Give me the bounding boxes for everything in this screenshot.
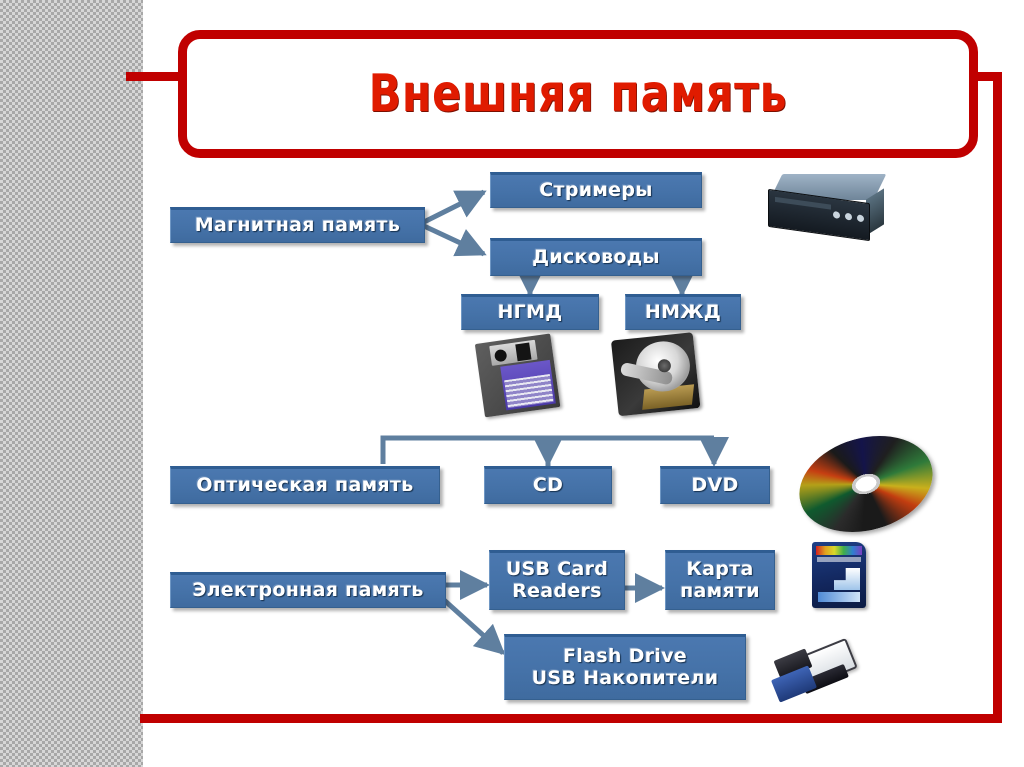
node-label-line2: Readers	[512, 581, 602, 603]
node-usb-card-readers[interactable]: USB Card Readers	[489, 550, 625, 610]
node-label: DVD	[691, 475, 738, 497]
node-label: НМЖД	[645, 302, 721, 324]
node-label-line1: Flash Drive	[563, 646, 687, 668]
node-cd[interactable]: CD	[484, 466, 612, 504]
node-label: Электронная память	[192, 580, 423, 602]
node-label: Магнитная память	[195, 215, 400, 237]
node-label: Дисководы	[532, 247, 660, 269]
node-dvd[interactable]: DVD	[660, 466, 770, 504]
floppy-disk-photo	[475, 333, 567, 424]
edge-optical-cd	[383, 438, 548, 466]
node-label-line1: USB Card	[506, 559, 608, 581]
compact-disc-photo	[798, 438, 934, 530]
node-label: НГМД	[497, 302, 562, 324]
optical-drive-photo	[766, 170, 892, 250]
edge-magnetic-streamers	[424, 192, 484, 222]
left-texture-panel	[0, 0, 143, 767]
frame-left-connector	[126, 72, 186, 81]
edge-magnetic-diskdrives	[424, 226, 484, 254]
node-label-line2: памяти	[680, 581, 760, 603]
node-memory-card[interactable]: Карта памяти	[665, 550, 775, 610]
node-label-line1: Карта	[686, 559, 753, 581]
sd-memory-card-photo	[812, 542, 866, 608]
frame-bottom-border	[140, 714, 1002, 723]
hard-disk-photo	[611, 332, 705, 423]
node-label-line2: USB Накопители	[532, 668, 719, 690]
node-optical-memory[interactable]: Оптическая память	[170, 466, 440, 504]
node-label: Оптическая память	[196, 475, 413, 497]
node-streamers[interactable]: Стримеры	[490, 172, 702, 208]
node-disk-drives[interactable]: Дисководы	[490, 238, 702, 276]
node-label: Стримеры	[539, 180, 652, 202]
node-ngmd[interactable]: НГМД	[461, 294, 599, 330]
frame-right-border	[993, 72, 1002, 723]
usb-flash-drive-photo	[772, 642, 858, 704]
node-electronic-memory[interactable]: Электронная память	[170, 572, 446, 608]
node-magnetic-memory[interactable]: Магнитная память	[170, 207, 425, 243]
node-flash-drive[interactable]: Flash Drive USB Накопители	[504, 634, 746, 700]
page-title: Внешняя память	[250, 44, 906, 144]
node-label: CD	[533, 475, 563, 497]
node-nmzhd[interactable]: НМЖД	[625, 294, 741, 330]
